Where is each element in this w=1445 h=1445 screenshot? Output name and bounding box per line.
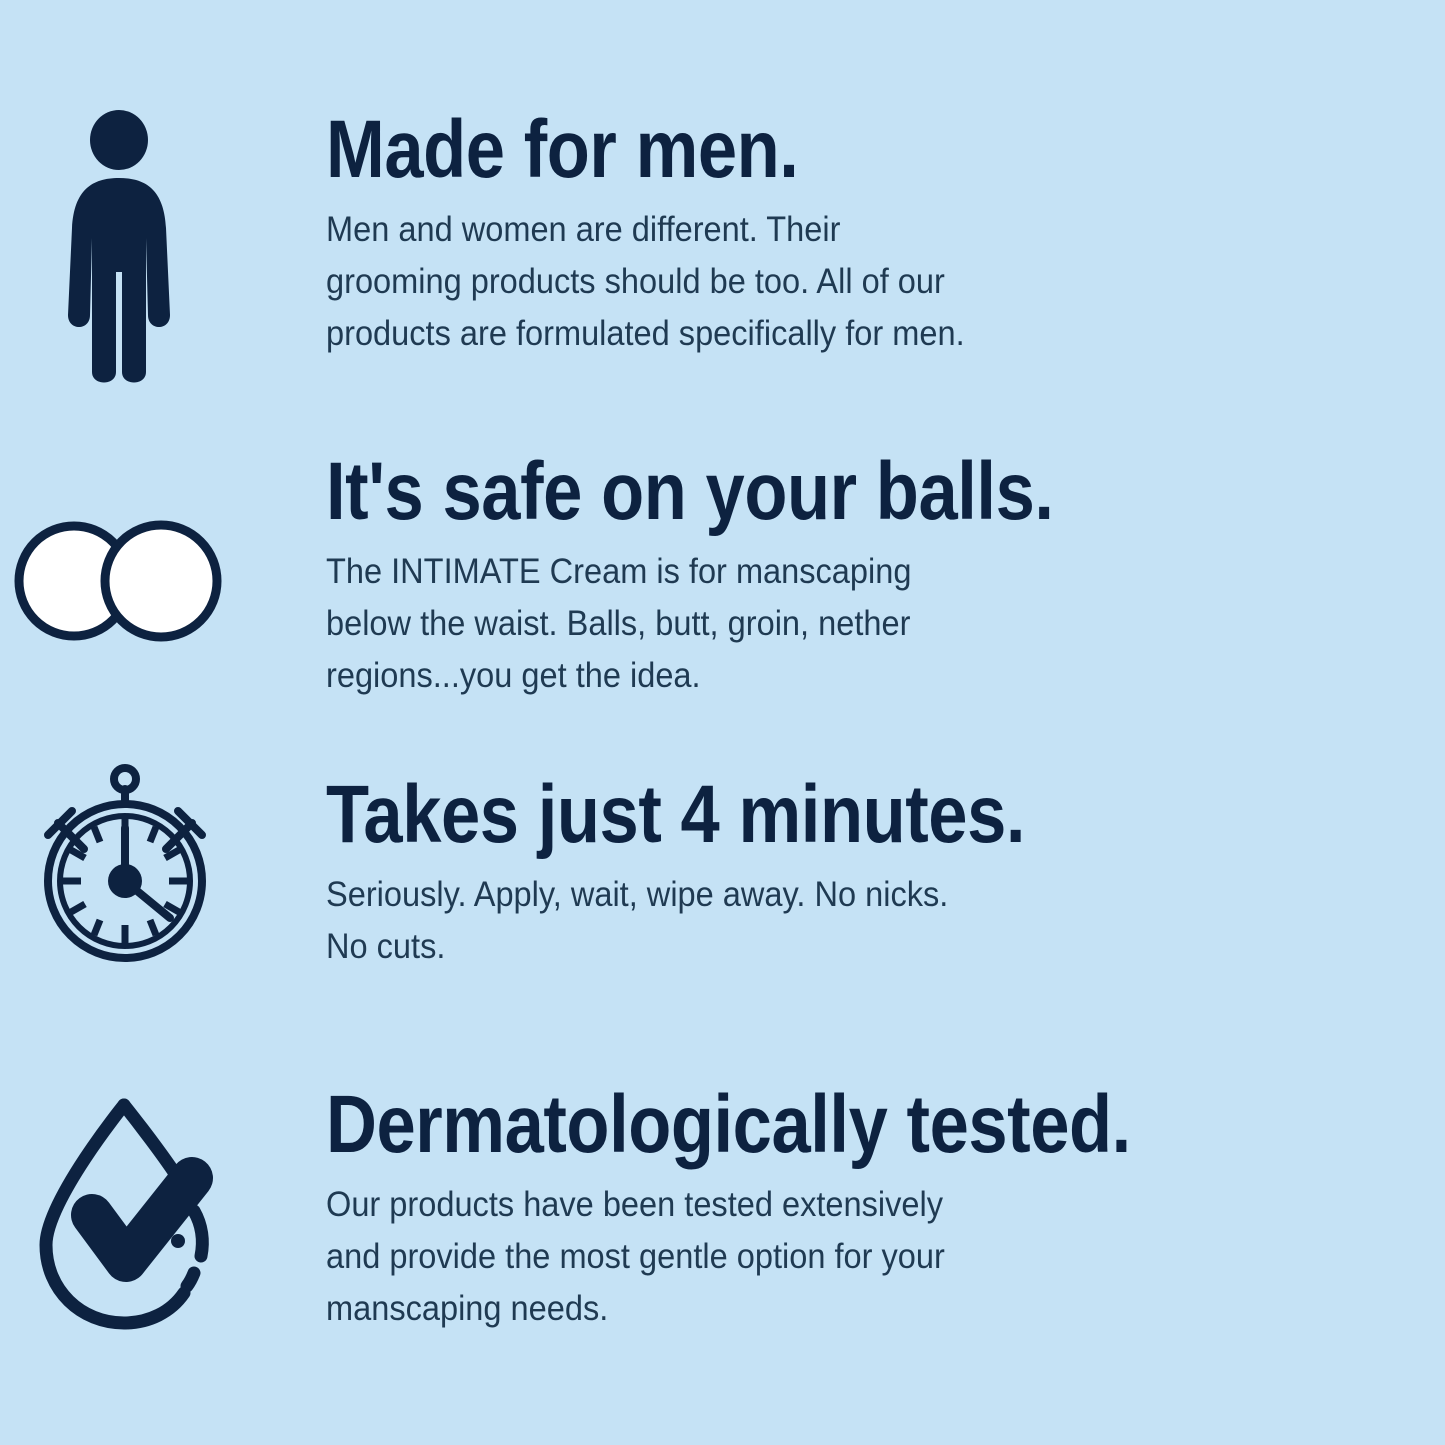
feature-headline: It's safe on your balls. (326, 452, 1281, 532)
male-figure-icon (62, 110, 252, 390)
product-benefits-infographic: Made for men. Men and women are differen… (0, 0, 1445, 1445)
body-line: products are formulated specifically for… (326, 308, 1358, 360)
droplet-check-icon (26, 1093, 226, 1333)
body-line: manscaping needs. (326, 1283, 1358, 1335)
body-line: below the waist. Balls, butt, groin, net… (326, 598, 1358, 650)
body-line: No cuts. (326, 921, 1358, 973)
body-line: and provide the most gentle option for y… (326, 1231, 1358, 1283)
body-line: Our products have been tested extensivel… (326, 1179, 1358, 1231)
body-line: Seriously. Apply, wait, wipe away. No ni… (326, 869, 1358, 921)
feature-copy-takes-4-minutes: Takes just 4 minutes. Seriously. Apply, … (326, 775, 1436, 973)
feature-headline: Dermatologically tested. (326, 1085, 1281, 1165)
feature-copy-dermatologically-tested: Dermatologically tested. Our products ha… (326, 1085, 1436, 1335)
feature-body: Seriously. Apply, wait, wipe away. No ni… (326, 869, 1358, 973)
two-overlapping-circles-icon (14, 520, 244, 650)
feature-body: The INTIMATE Cream is for manscaping bel… (326, 546, 1358, 702)
feature-body: Our products have been tested extensivel… (326, 1179, 1358, 1335)
body-line: Men and women are different. Their (326, 204, 1358, 256)
feature-copy-safe-on-balls: It's safe on your balls. The INTIMATE Cr… (326, 452, 1436, 702)
stopwatch-icon (22, 763, 232, 993)
body-line: The INTIMATE Cream is for manscaping (326, 546, 1358, 598)
body-line: grooming products should be too. All of … (326, 256, 1358, 308)
feature-copy-made-for-men: Made for men. Men and women are differen… (326, 110, 1436, 360)
body-line: regions...you get the idea. (326, 650, 1358, 702)
feature-body: Men and women are different. Their groom… (326, 204, 1358, 360)
feature-headline: Takes just 4 minutes. (326, 775, 1281, 855)
feature-headline: Made for men. (326, 110, 1281, 190)
